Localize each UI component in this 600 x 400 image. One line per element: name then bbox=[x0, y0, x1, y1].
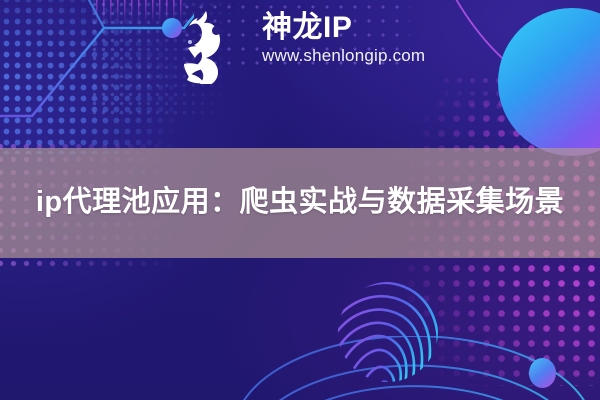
brand-website: www.shenlongip.com bbox=[262, 45, 425, 67]
promo-banner: 神龙IP www.shenlongip.com ip代理池应用：爬虫实战与数据采… bbox=[0, 0, 600, 400]
dragon-logo-mark bbox=[176, 8, 254, 84]
page-title: ip代理池应用：爬虫实战与数据采集场景 bbox=[20, 182, 580, 223]
gradient-sphere-small bbox=[529, 358, 556, 388]
brand-text: 神龙IP www.shenlongip.com bbox=[262, 6, 425, 67]
fingerprint-icon bbox=[330, 278, 446, 394]
title-overlay-band: ip代理池应用：爬虫实战与数据采集场景 bbox=[0, 148, 600, 258]
brand-name-cn: 神龙IP bbox=[262, 12, 425, 43]
brand-logo[interactable]: 神龙IP www.shenlongip.com bbox=[176, 6, 425, 84]
